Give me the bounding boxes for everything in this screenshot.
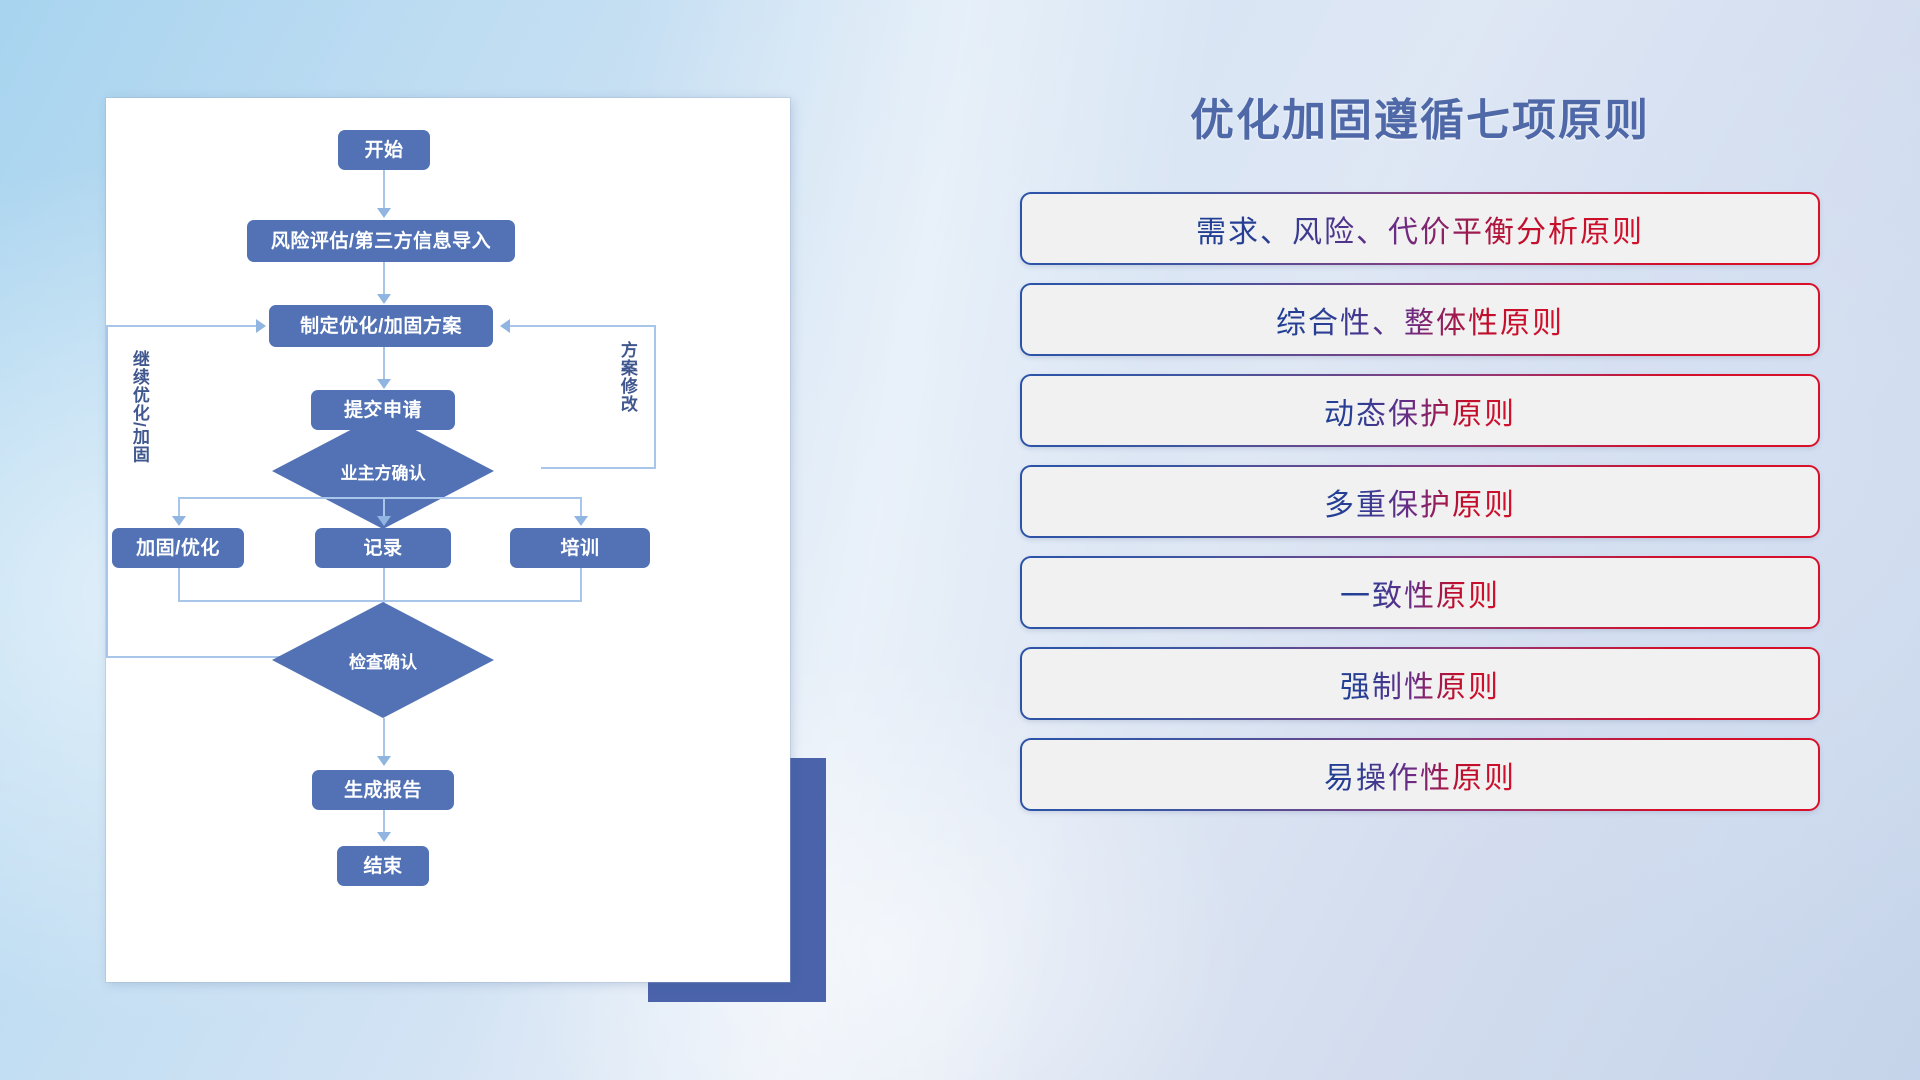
arrow-down-icon <box>377 516 391 526</box>
principle-card-inner: 多重保护原则 <box>1022 467 1818 536</box>
flow-node-label: 制定优化/加固方案 <box>300 317 462 336</box>
flow-decision-check-confirm[interactable]: 检查确认 <box>272 602 494 718</box>
loop-right-label: 方案修改 <box>618 341 636 413</box>
principle-card[interactable]: 强制性原则 <box>1020 647 1820 720</box>
flow-node-generate-report[interactable]: 生成报告 <box>312 770 454 810</box>
arrow-down-icon <box>377 294 391 304</box>
principle-label: 一致性原则 <box>1340 571 1500 615</box>
principle-card-inner: 需求、风险、代价平衡分析原则 <box>1022 194 1818 263</box>
flow-node-label: 风险评估/第三方信息导入 <box>271 232 491 251</box>
principle-card-inner: 综合性、整体性原则 <box>1022 285 1818 354</box>
branch-bus-top <box>178 497 582 499</box>
principle-card[interactable]: 一致性原则 <box>1020 556 1820 629</box>
principle-card[interactable]: 多重保护原则 <box>1020 465 1820 538</box>
loop-right-horizontal-bottom <box>541 467 656 469</box>
arrow-down-icon <box>377 379 391 389</box>
principle-card-inner: 强制性原则 <box>1022 649 1818 718</box>
principle-card[interactable]: 需求、风险、代价平衡分析原则 <box>1020 192 1820 265</box>
principle-card-inner: 动态保护原则 <box>1022 376 1818 445</box>
merge-bus <box>178 600 582 602</box>
principle-label: 多重保护原则 <box>1324 480 1516 524</box>
principle-label: 综合性、整体性原则 <box>1276 298 1564 342</box>
principle-card[interactable]: 动态保护原则 <box>1020 374 1820 447</box>
loop-left-horizontal-top <box>106 325 256 327</box>
loop-right-vertical <box>654 325 656 469</box>
principles-panel: 优化加固遵循七项原则 需求、风险、代价平衡分析原则 综合性、整体性原则 动态保护… <box>1020 84 1820 811</box>
arrow-down-icon <box>574 516 588 526</box>
flow-node-record[interactable]: 记录 <box>315 528 451 568</box>
flow-node-label: 检查确认 <box>349 648 417 673</box>
arrow-down-icon <box>377 208 391 218</box>
flow-node-risk-assessment[interactable]: 风险评估/第三方信息导入 <box>247 220 515 262</box>
connector-start-to-risk <box>383 170 385 212</box>
flowchart-canvas: 开始 风险评估/第三方信息导入 制定优化/加固方案 继续优化/加固 方案修改 提… <box>106 98 790 982</box>
flow-node-label: 加固/优化 <box>136 539 220 558</box>
loop-right-horizontal-top <box>510 325 656 327</box>
principles-list: 需求、风险、代价平衡分析原则 综合性、整体性原则 动态保护原则 多重保护原则 一… <box>1020 192 1820 811</box>
flowchart-card: 开始 风险评估/第三方信息导入 制定优化/加固方案 继续优化/加固 方案修改 提… <box>106 98 790 982</box>
loop-left-label: 继续优化/加固 <box>130 350 148 464</box>
arrow-down-icon <box>377 832 391 842</box>
principle-card-inner: 易操作性原则 <box>1022 740 1818 809</box>
arrow-left-icon <box>500 319 510 333</box>
principle-card-inner: 一致性原则 <box>1022 558 1818 627</box>
flow-node-end[interactable]: 结束 <box>337 846 429 886</box>
flow-node-start[interactable]: 开始 <box>338 130 430 170</box>
flow-node-label: 开始 <box>364 141 403 160</box>
flow-node-label: 结束 <box>363 857 402 876</box>
flow-node-label: 业主方确认 <box>341 459 426 484</box>
loop-left-vertical <box>106 325 108 658</box>
flow-node-training[interactable]: 培训 <box>510 528 650 568</box>
connector-risk-to-plan <box>383 262 385 298</box>
arrow-down-icon <box>172 516 186 526</box>
principle-label: 强制性原则 <box>1340 662 1500 706</box>
flow-node-label: 生成报告 <box>344 781 422 800</box>
connector-plan-to-submit <box>383 347 385 383</box>
page-title: 优化加固遵循七项原则 <box>1020 84 1820 148</box>
principle-label: 需求、风险、代价平衡分析原则 <box>1196 207 1644 251</box>
flow-node-make-plan[interactable]: 制定优化/加固方案 <box>269 305 493 347</box>
flow-node-reinforce-optimize[interactable]: 加固/优化 <box>112 528 244 568</box>
arrow-right-icon <box>256 319 266 333</box>
principle-card[interactable]: 综合性、整体性原则 <box>1020 283 1820 356</box>
principle-label: 易操作性原则 <box>1324 753 1516 797</box>
connector-check-to-report <box>383 718 385 760</box>
merge-left-rise <box>178 568 180 601</box>
flow-node-label: 记录 <box>363 539 402 558</box>
merge-right-rise <box>580 568 582 601</box>
principle-card[interactable]: 易操作性原则 <box>1020 738 1820 811</box>
flow-node-label: 培训 <box>560 539 599 558</box>
arrow-down-icon <box>377 756 391 766</box>
principle-label: 动态保护原则 <box>1324 389 1516 433</box>
